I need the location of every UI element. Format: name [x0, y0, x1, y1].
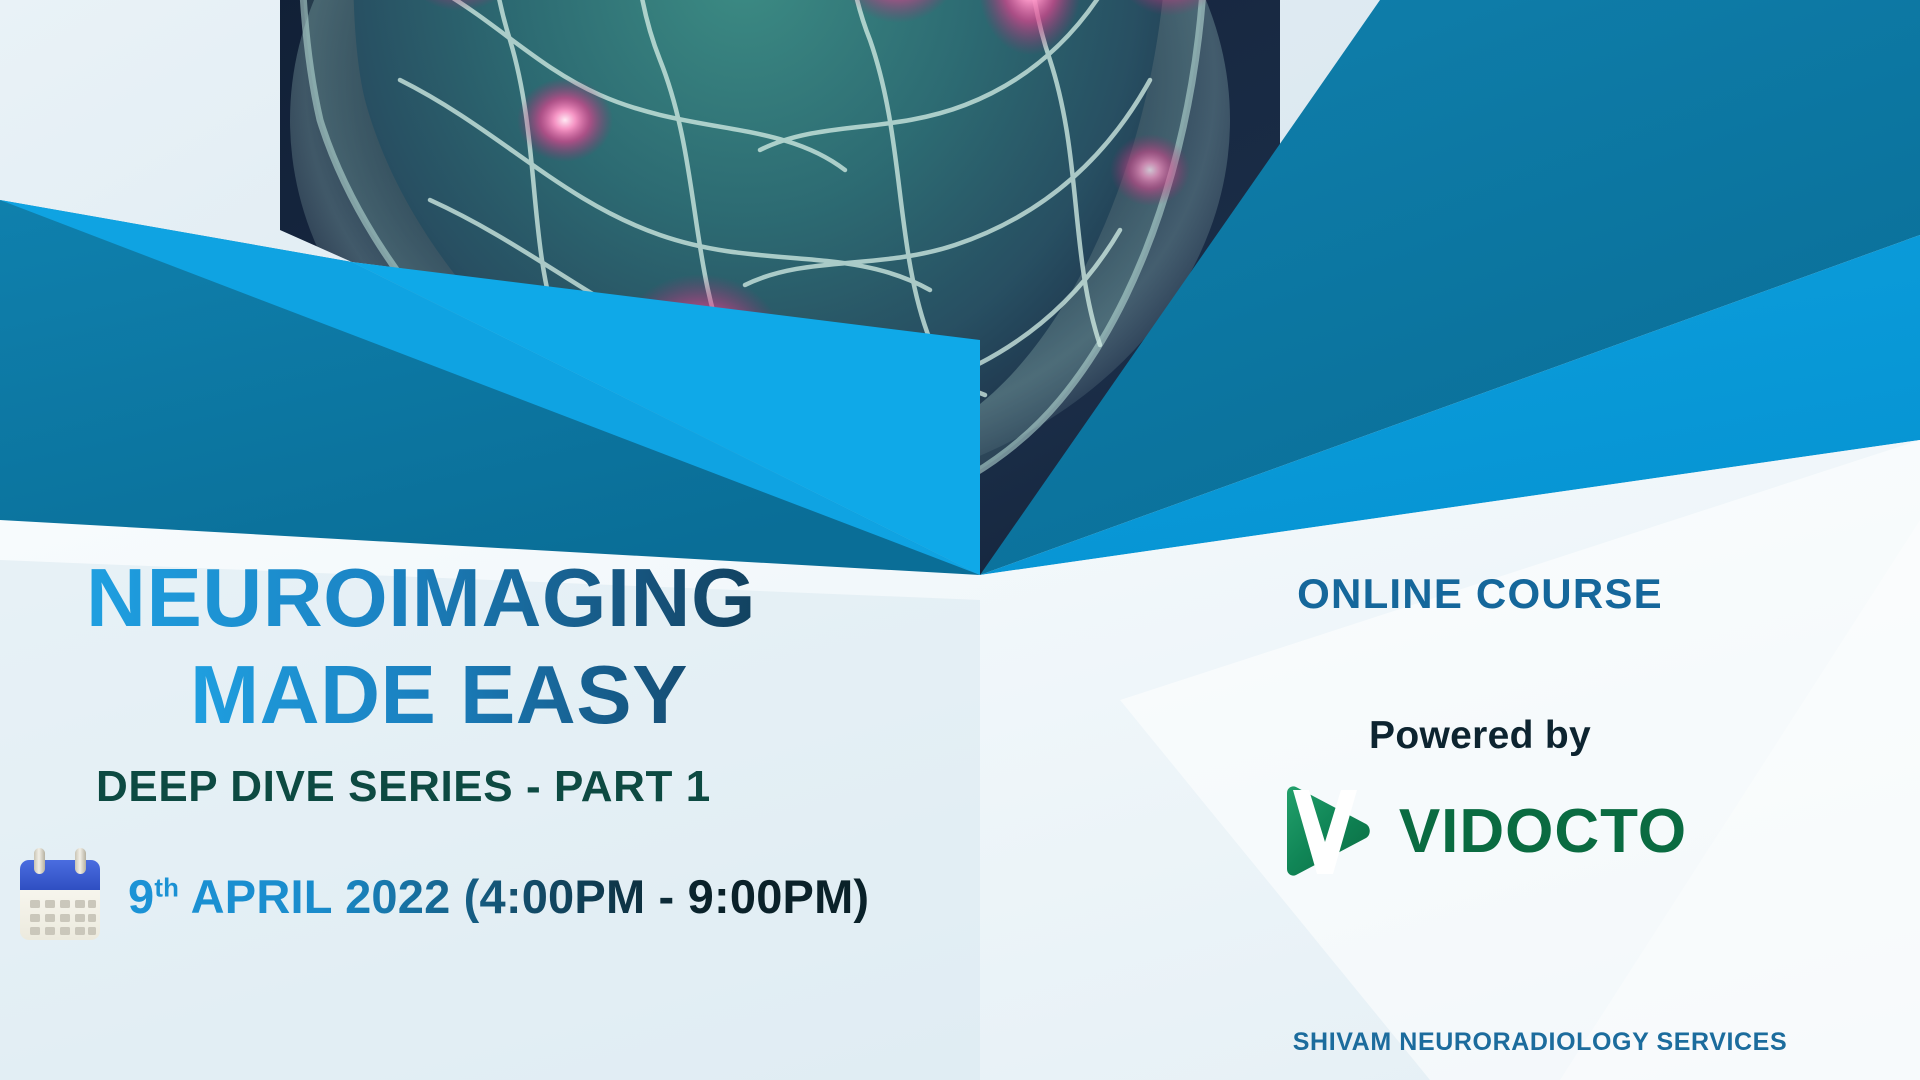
- vidocto-logo[interactable]: VIDOCTO: [1200, 780, 1760, 884]
- event-poster: NEUROIMAGING MADE EASY DEEP DIVE SERIES …: [0, 0, 1920, 1080]
- event-date-rest: APRIL 2022 (4:00PM - 9:00PM): [179, 870, 869, 923]
- online-course-label: ONLINE COURSE: [1200, 570, 1760, 618]
- page-title-line1: NEUROIMAGING: [86, 556, 1000, 639]
- event-date-row: 9th APRIL 2022 (4:00PM - 9:00PM): [14, 846, 1000, 946]
- event-date-ordinal: th: [154, 874, 179, 902]
- page-title-line2: MADE EASY: [190, 653, 1000, 736]
- organization-footer: SHIVAM NEURORADIOLOGY SERVICES: [1210, 1028, 1870, 1057]
- vidocto-wordmark: VIDOCTO: [1399, 801, 1687, 863]
- left-text-block: NEUROIMAGING MADE EASY DEEP DIVE SERIES …: [0, 556, 1000, 946]
- vidocto-play-mark-icon: [1273, 780, 1377, 884]
- event-date-text: 9th APRIL 2022 (4:00PM - 9:00PM): [128, 869, 869, 924]
- powered-by-label: Powered by: [1200, 714, 1760, 758]
- series-subtitle: DEEP DIVE SERIES - PART 1: [96, 762, 1000, 812]
- event-date-day: 9: [128, 870, 154, 923]
- calendar-icon: [14, 846, 106, 946]
- right-info-block: ONLINE COURSE Powered by VIDOCTO: [1200, 570, 1760, 884]
